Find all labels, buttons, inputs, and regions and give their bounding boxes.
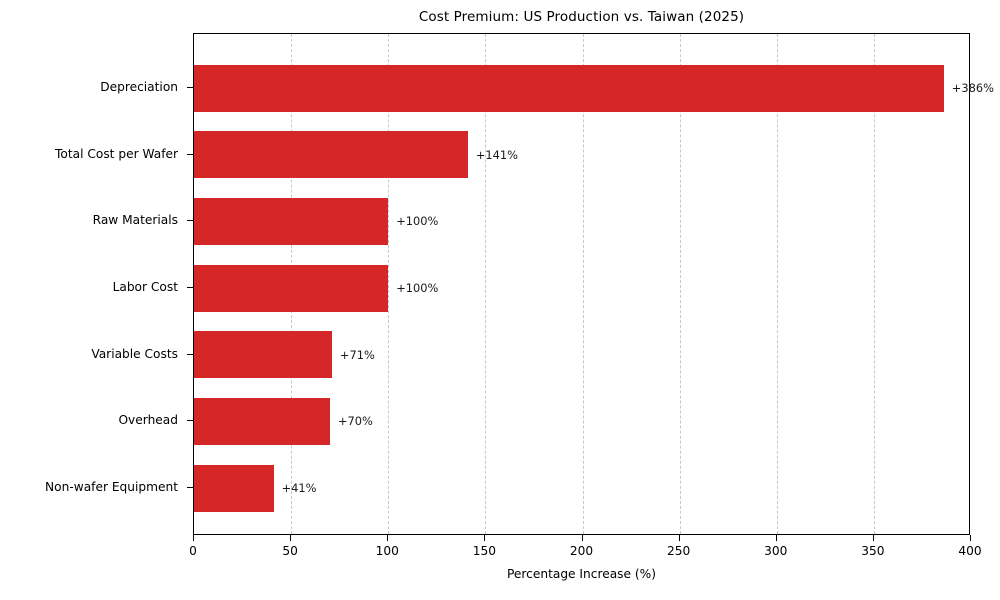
bar[interactable] [194,198,388,245]
bar-value-label: +100% [396,281,438,295]
x-axis-title: Percentage Increase (%) [193,567,970,581]
x-tick-label: 200 [570,544,593,558]
x-tick-label: 0 [189,544,197,558]
chart-title: Cost Premium: US Production vs. Taiwan (… [193,9,970,25]
x-tick-label: 300 [764,544,787,558]
bar-value-label: +41% [282,481,317,495]
y-tick-label: Labor Cost [113,280,178,294]
y-tick-label: Non-wafer Equipment [45,480,178,494]
y-tick-label: Overhead [118,413,178,427]
x-tick-mark [582,535,583,541]
x-tick-mark [970,535,971,541]
x-tick-label: 100 [376,544,399,558]
x-tick-label: 150 [473,544,496,558]
x-tick-label: 350 [861,544,884,558]
y-axis: DepreciationTotal Cost per WaferRaw Mate… [0,33,193,535]
x-tick-mark [193,535,194,541]
x-tick-mark [873,535,874,541]
x-tick-mark [387,535,388,541]
bar[interactable] [194,331,332,378]
y-tick-label: Depreciation [100,80,178,94]
bar[interactable] [194,398,330,445]
y-tick-label: Raw Materials [93,213,178,227]
bar-value-label: +71% [340,348,375,362]
x-tick-mark [290,535,291,541]
bar-value-label: +70% [338,414,373,428]
x-tick-label: 50 [282,544,298,558]
plot-area: +386%+141%+100%+100%+71%+70%+41% [193,33,970,535]
x-tick-label: 250 [667,544,690,558]
bar-value-label: +386% [952,81,994,95]
bar-value-label: +100% [396,214,438,228]
y-tick-label: Total Cost per Wafer [55,147,178,161]
bar[interactable] [194,65,944,112]
y-tick-label: Variable Costs [91,347,178,361]
x-tick-label: 400 [958,544,981,558]
chart-figure: Cost Premium: US Production vs. Taiwan (… [0,0,1000,600]
x-tick-mark [776,535,777,541]
bar[interactable] [194,465,274,512]
x-tick-mark [484,535,485,541]
x-tick-mark [679,535,680,541]
bar[interactable] [194,131,468,178]
bar[interactable] [194,265,388,312]
x-axis: Percentage Increase (%) 0501001502002503… [193,535,970,600]
bar-value-label: +141% [476,148,518,162]
bars-layer: +386%+141%+100%+100%+71%+70%+41% [194,34,969,534]
